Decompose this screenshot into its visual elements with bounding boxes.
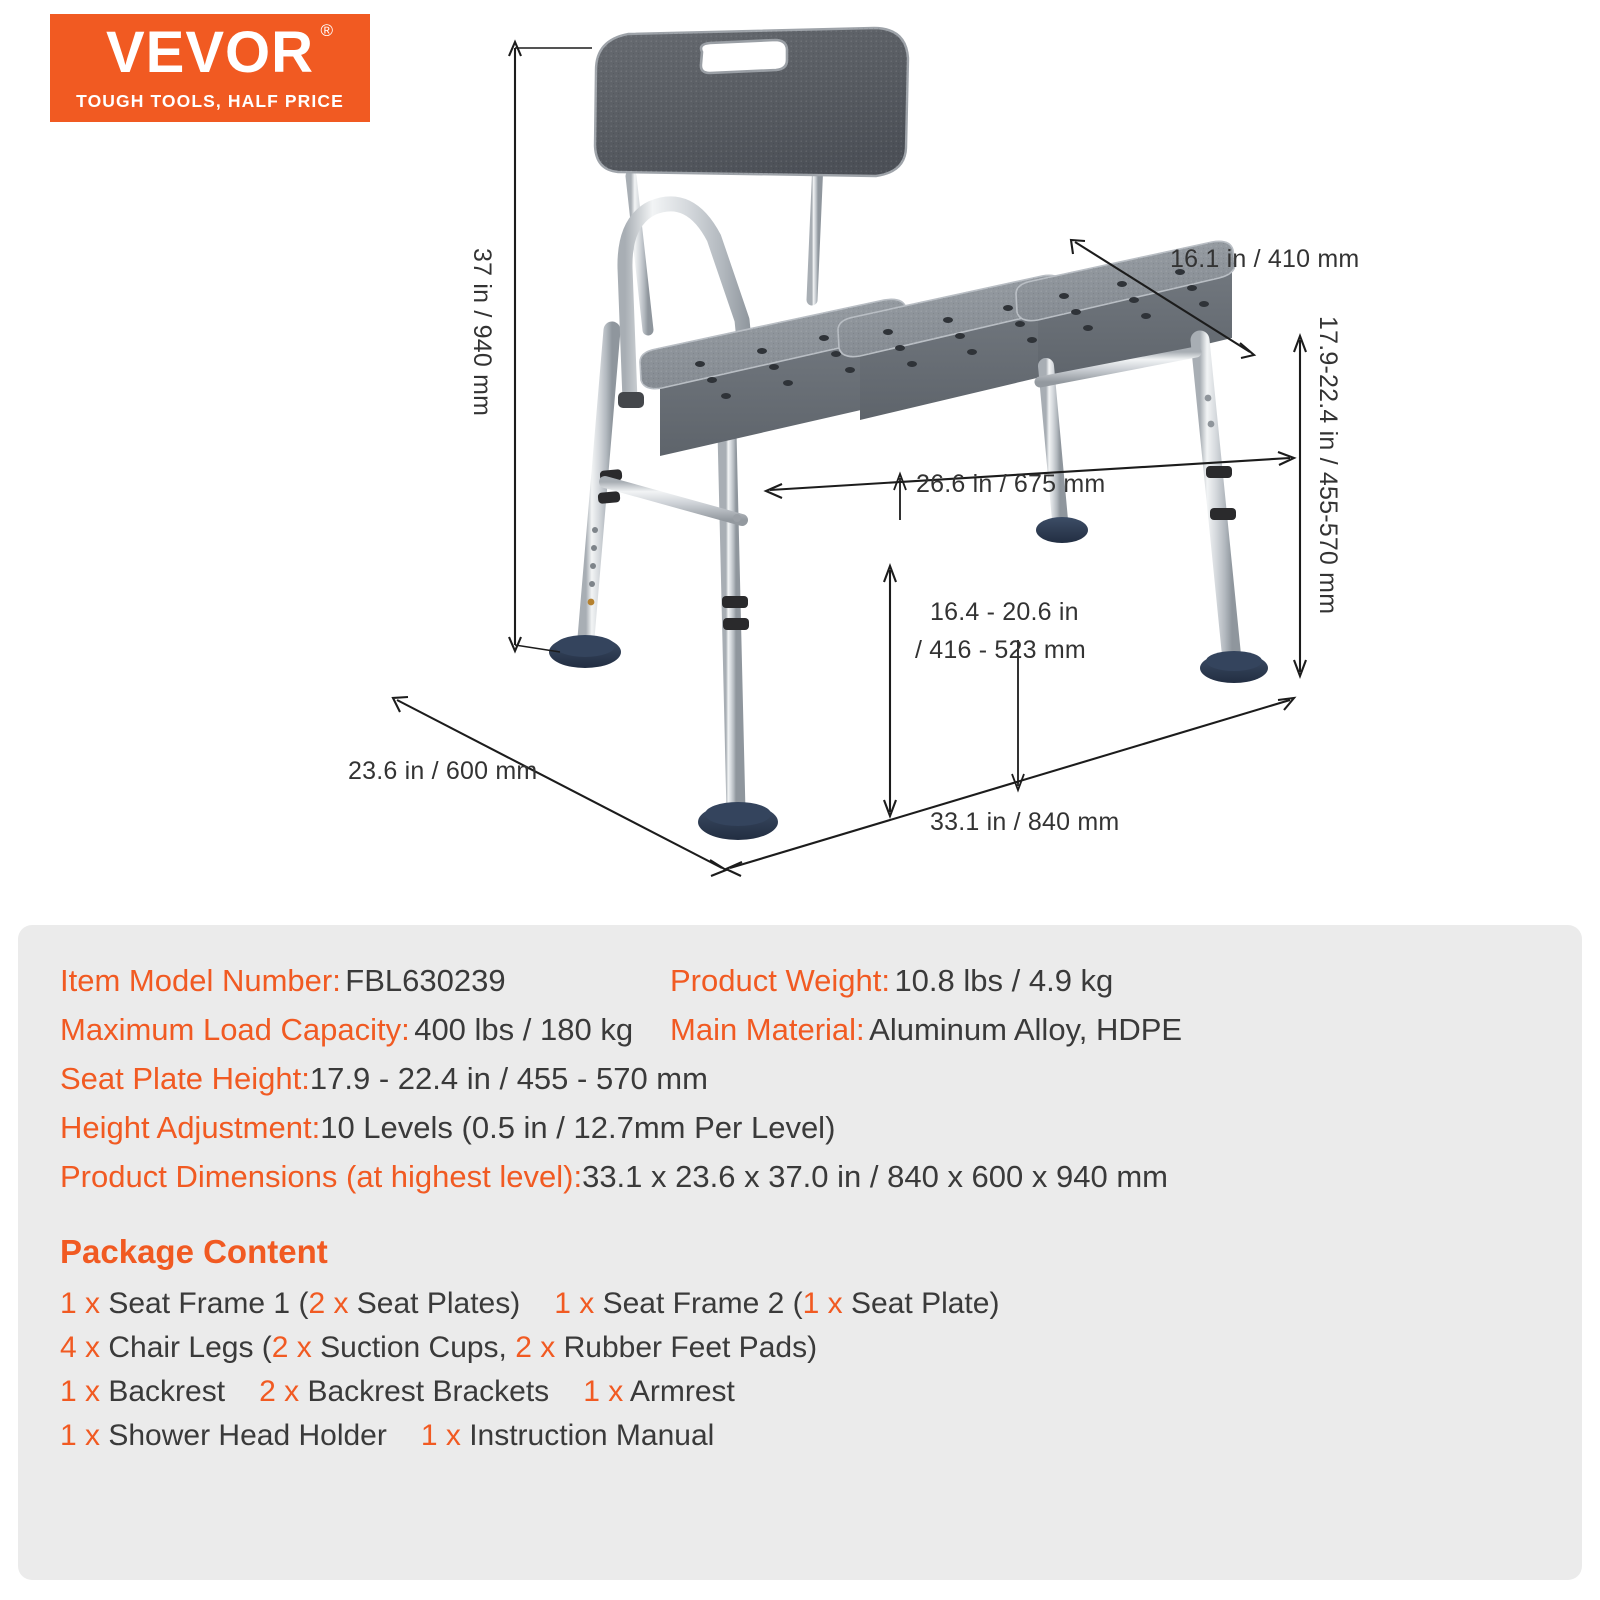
spec-label: Seat Plate Height: (60, 1061, 310, 1097)
spec-item-height-adjustment: Height Adjustment: 10 Levels (0.5 in / 1… (60, 1110, 1540, 1146)
dim-overall-height: 37 in / 940 mm (467, 248, 496, 416)
package-item-name: Chair Legs ( (108, 1331, 271, 1364)
package-content-line: 1 x Backrest2 x Backrest Brackets1 x Arm… (60, 1375, 1540, 1409)
package-item-quantity: 1 x (60, 1375, 108, 1408)
rubber-foot-pad (1036, 517, 1088, 543)
package-content-line: 1 x Shower Head Holder1 x Instruction Ma… (60, 1419, 1540, 1453)
spec-item-model-number: Item Model Number: FBL630239 (60, 963, 670, 999)
package-item-name: Backrest (108, 1375, 225, 1408)
package-item-name: Suction Cups, (320, 1331, 515, 1364)
package-item-quantity: 1 x (421, 1419, 469, 1452)
spec-label: Item Model Number: (60, 963, 341, 998)
dim-seat-depth: 16.1 in / 410 mm (1170, 245, 1359, 274)
dim-frame-height-line2: / 416 - 523 mm (915, 636, 1086, 665)
package-item-name: Backrest Brackets (307, 1375, 549, 1408)
spec-label: Maximum Load Capacity: (60, 1012, 410, 1047)
package-content-list: 1 x Seat Frame 1 (2 x Seat Plates)1 x Se… (60, 1287, 1540, 1453)
dim-frame-height-line1: 16.4 - 20.6 in (930, 598, 1079, 627)
spec-row: Maximum Load Capacity: 400 lbs / 180 kg … (60, 1012, 1540, 1048)
package-item-quantity: 4 x (60, 1331, 108, 1364)
dim-seat-plate-height: 17.9-22.4 in / 455-570 mm (1313, 316, 1342, 614)
specification-panel: Item Model Number: FBL630239 Product Wei… (18, 925, 1582, 1580)
leg-front-left (698, 390, 778, 840)
spec-row: Item Model Number: FBL630239 Product Wei… (60, 963, 1540, 999)
spec-label: Product Weight: (670, 963, 890, 998)
package-item-quantity: 2 x (515, 1331, 563, 1364)
dim-seat-width: 26.6 in / 675 mm (916, 470, 1105, 499)
backrest-assembly (595, 28, 908, 330)
spec-label: Height Adjustment: (60, 1110, 320, 1146)
spec-item-seat-plate-height: Seat Plate Height: 17.9 - 22.4 in / 455 … (60, 1061, 1540, 1097)
leg-rear-left (549, 330, 622, 668)
spec-value: Aluminum Alloy, HDPE (869, 1012, 1182, 1047)
spec-value: 10 Levels (0.5 in / 12.7mm Per Level) (320, 1110, 835, 1146)
leg-front-right (1200, 340, 1268, 683)
dim-overall-depth: 23.6 in / 600 mm (348, 757, 537, 786)
package-item-name: Armrest (630, 1375, 735, 1408)
package-content-title: Package Content (60, 1233, 1540, 1271)
spec-item-main-material: Main Material: Aluminum Alloy, HDPE (670, 1012, 1540, 1048)
package-item-name: Seat Frame 1 ( (108, 1287, 308, 1320)
package-item-quantity: 1 x (60, 1287, 108, 1320)
package-item-quantity: 1 x (583, 1375, 630, 1408)
spec-value: 10.8 lbs / 4.9 kg (894, 963, 1113, 998)
spec-value: 33.1 x 23.6 x 37.0 in / 840 x 600 x 940 … (582, 1159, 1168, 1195)
package-item-quantity: 2 x (259, 1375, 307, 1408)
backrest-handle-slot (701, 40, 787, 73)
package-item-quantity: 1 x (803, 1287, 851, 1320)
spec-value: 17.9 - 22.4 in / 455 - 570 mm (310, 1061, 708, 1097)
package-item-name: Seat Frame 2 ( (603, 1287, 803, 1320)
spec-item-product-weight: Product Weight: 10.8 lbs / 4.9 kg (670, 963, 1540, 999)
spec-item-product-dimensions: Product Dimensions (at highest level): 3… (60, 1159, 1540, 1195)
spec-label: Product Dimensions (at highest level): (60, 1159, 582, 1195)
package-item-quantity: 2 x (272, 1331, 320, 1364)
package-item-quantity: 2 x (308, 1287, 356, 1320)
package-content-line: 1 x Seat Frame 1 (2 x Seat Plates)1 x Se… (60, 1287, 1540, 1321)
product-diagram: 37 in / 940 mm 16.1 in / 410 mm 17.9-22.… (0, 0, 1600, 910)
package-item-quantity: 1 x (554, 1287, 602, 1320)
dim-overall-width: 33.1 in / 840 mm (930, 808, 1119, 837)
package-item-name: Shower Head Holder (108, 1419, 386, 1452)
spec-value: FBL630239 (345, 963, 505, 998)
package-item-quantity: 1 x (60, 1419, 108, 1452)
spec-item-max-load: Maximum Load Capacity: 400 lbs / 180 kg (60, 1012, 670, 1048)
spec-label: Main Material: (670, 1012, 865, 1047)
package-item-name: Seat Plate) (851, 1287, 999, 1320)
package-item-name: Rubber Feet Pads) (564, 1331, 817, 1364)
package-item-name: Instruction Manual (469, 1419, 714, 1452)
spec-value: 400 lbs / 180 kg (414, 1012, 633, 1047)
package-content-line: 4 x Chair Legs (2 x Suction Cups, 2 x Ru… (60, 1331, 1540, 1365)
leg-rear-right (1036, 366, 1088, 543)
package-item-name: Seat Plates) (357, 1287, 520, 1320)
product-illustration (0, 0, 1600, 910)
